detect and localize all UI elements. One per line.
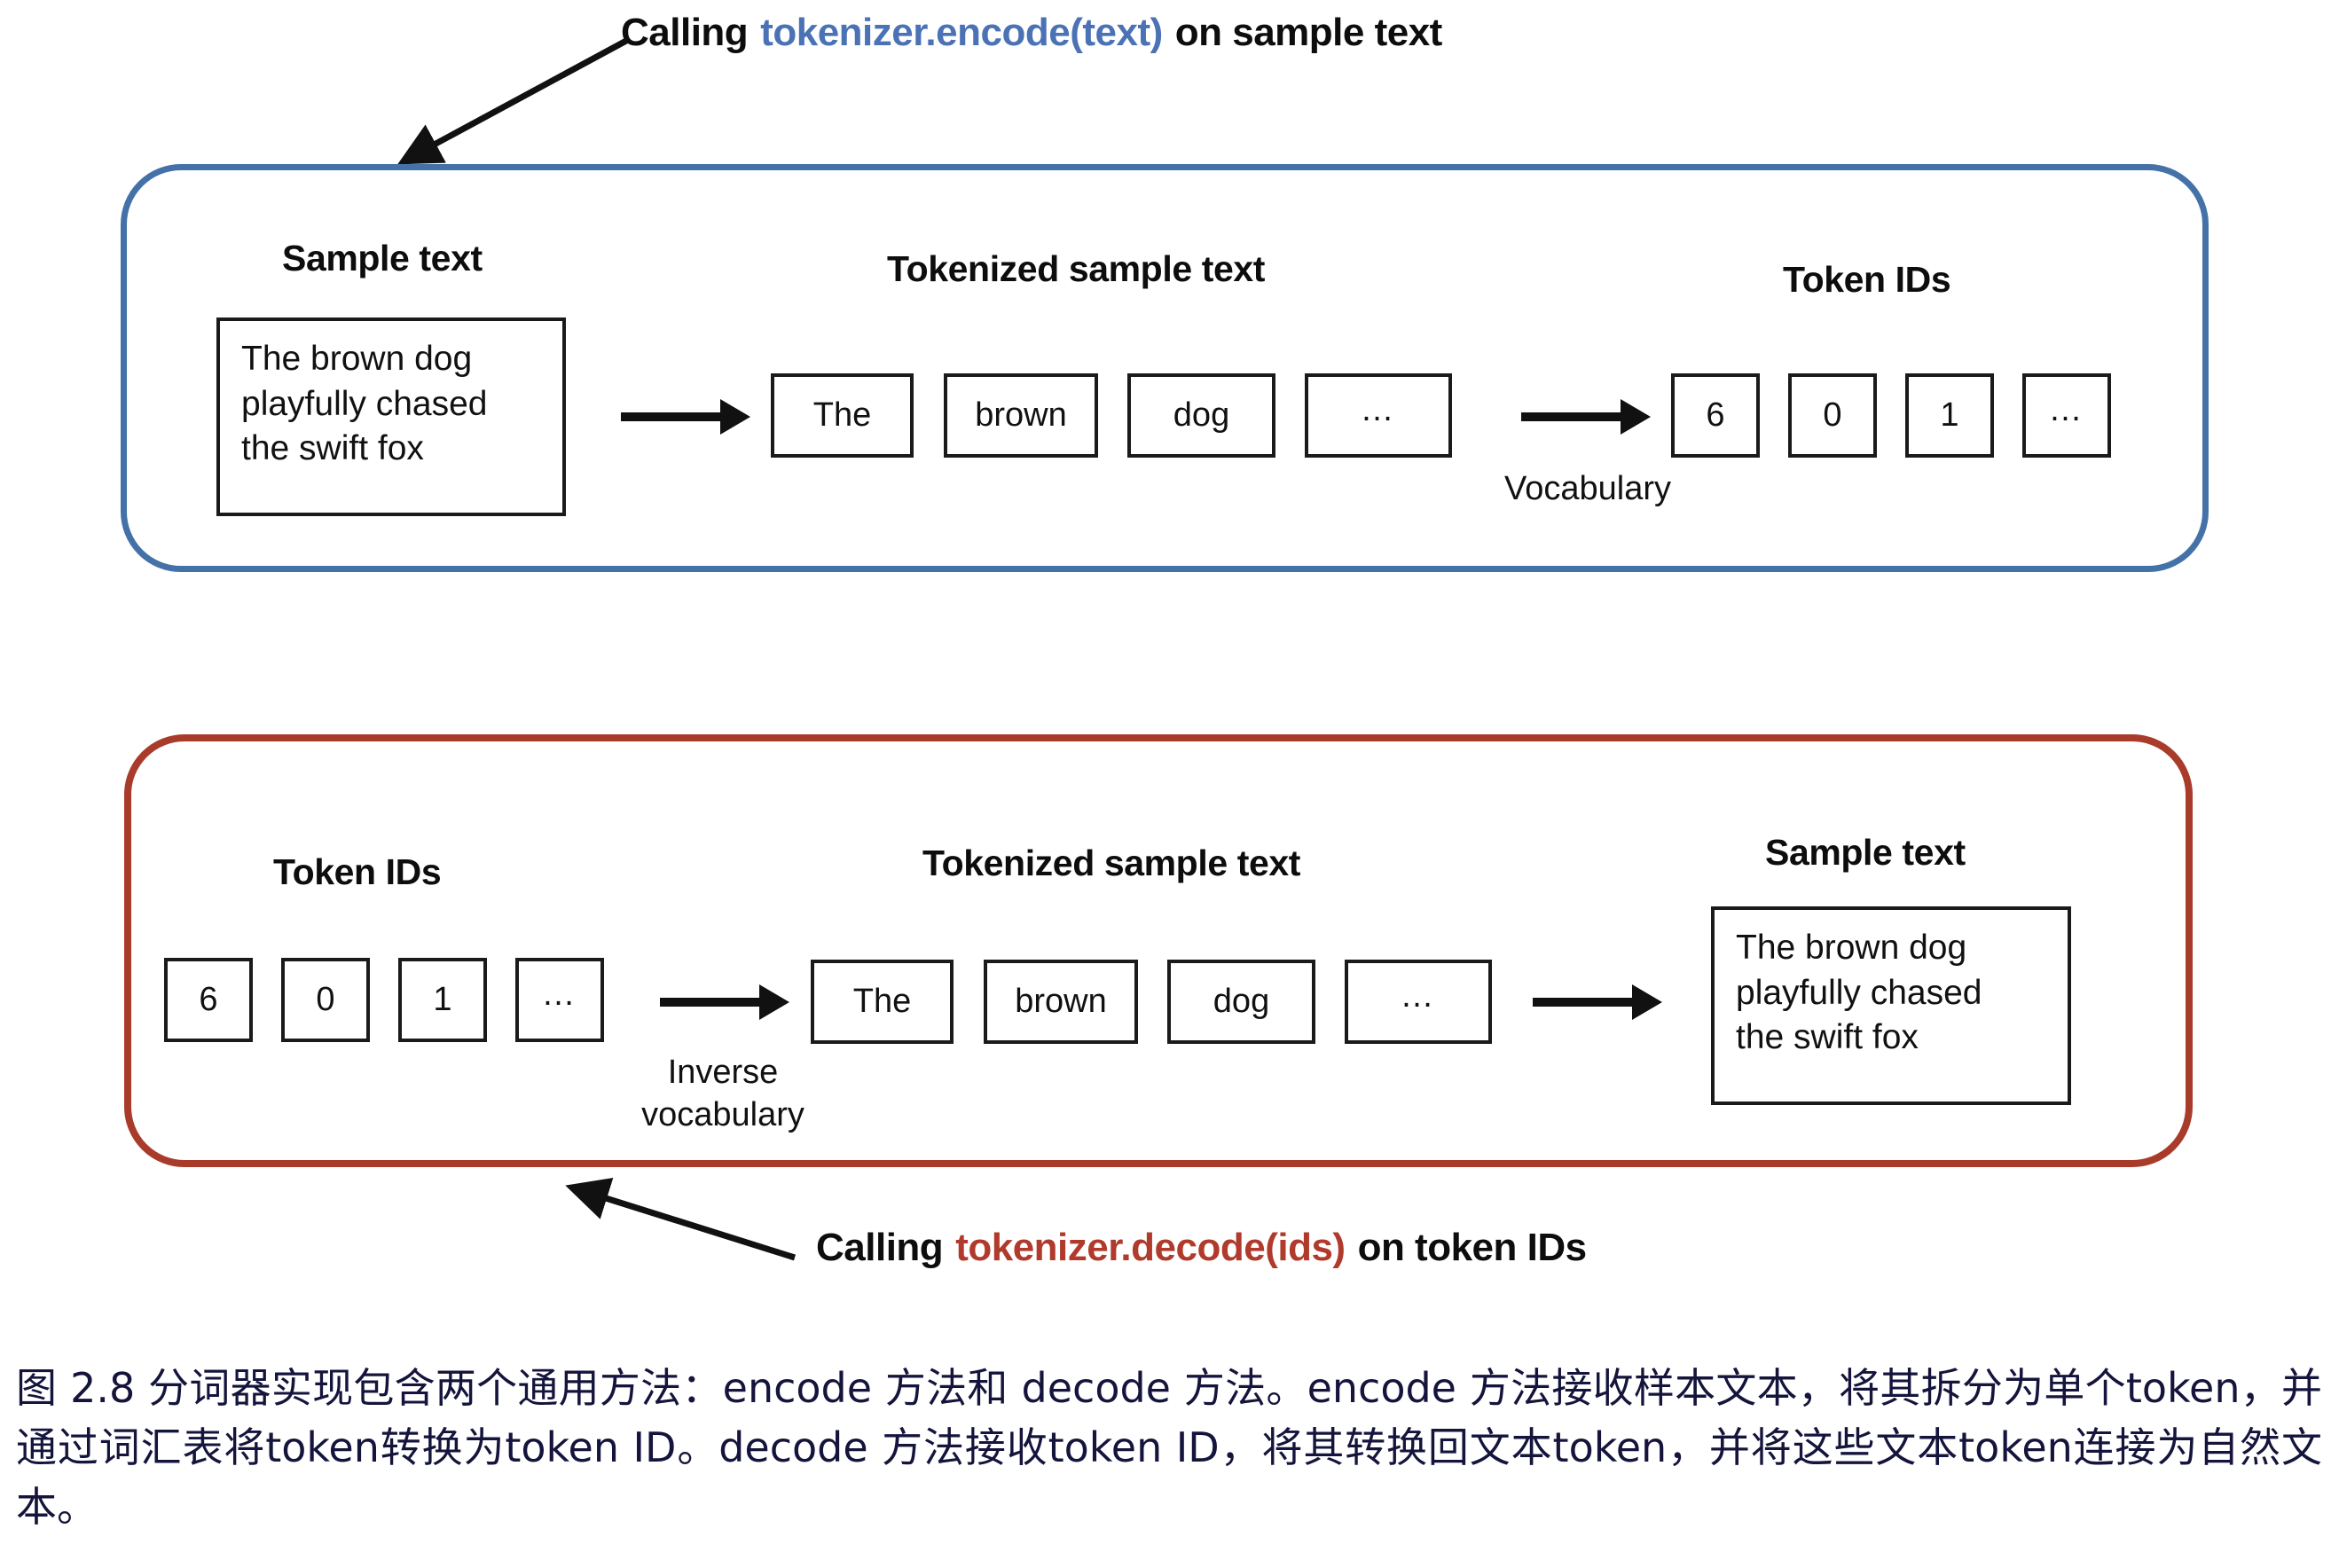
encode-annotation-prefix: Calling (621, 11, 748, 54)
encode-token-ids-heading: Token IDs (1783, 259, 1950, 301)
encode-annotation-suffix: on sample text (1175, 11, 1442, 54)
encode-token-box: brown (944, 373, 1098, 458)
decode-token-box-ellipsis: … (1345, 960, 1492, 1044)
figure-caption: 图 2.8 分词器实现包含两个通用方法：encode 方法和 decode 方法… (16, 1359, 2322, 1537)
decode-token-ids-heading: Token IDs (273, 851, 441, 893)
decode-token-id-box: 1 (398, 958, 487, 1042)
decode-annotation-code: tokenizer.decode(ids) (955, 1226, 1345, 1269)
encode-annotation-code: tokenizer.encode(text) (760, 11, 1163, 54)
decode-tokenized-heading: Tokenized sample text (922, 843, 1300, 884)
ellipsis-icon: … (1401, 977, 1437, 1015)
encode-sample-text-box: The brown dog playfully chased the swift… (216, 318, 566, 516)
decode-sample-text-box: The brown dog playfully chased the swift… (1711, 906, 2071, 1105)
decode-token-id-box-ellipsis: … (515, 958, 604, 1042)
decode-token-id-box: 0 (281, 958, 370, 1042)
encode-token-id-box: 6 (1671, 373, 1760, 458)
ellipsis-icon: … (2049, 391, 2085, 429)
encode-token-id-box: 0 (1788, 373, 1877, 458)
decode-annotation-suffix: on token IDs (1358, 1226, 1587, 1269)
encode-token-id-box-ellipsis: … (2022, 373, 2111, 458)
encode-token-box-ellipsis: … (1305, 373, 1452, 458)
decode-sample-text-heading: Sample text (1765, 832, 1966, 874)
ellipsis-icon: … (1361, 391, 1397, 429)
encode-token-box: The (771, 373, 914, 458)
encode-tokenized-heading: Tokenized sample text (887, 248, 1265, 290)
encode-annotation: Callingtokenizer.encode(text)on sample t… (621, 11, 1442, 55)
decode-token-box: The (811, 960, 954, 1044)
decode-token-box: brown (984, 960, 1138, 1044)
encode-token-id-box: 1 (1905, 373, 1994, 458)
decode-pointer-arrow (532, 1171, 834, 1286)
decode-annotation: Callingtokenizer.decode(ids)on token IDs (816, 1226, 1587, 1270)
ellipsis-icon: … (542, 976, 578, 1014)
decode-annotation-prefix: Calling (816, 1226, 943, 1269)
encode-sample-text-heading: Sample text (282, 238, 483, 279)
encode-pointer-arrow (355, 27, 639, 177)
decode-token-id-box: 6 (164, 958, 253, 1042)
encode-token-box: dog (1127, 373, 1275, 458)
decode-token-box: dog (1167, 960, 1315, 1044)
encode-flow-label: Vocabulary (1455, 468, 1721, 511)
decode-flow-label: Inverse vocabulary (590, 1052, 856, 1136)
